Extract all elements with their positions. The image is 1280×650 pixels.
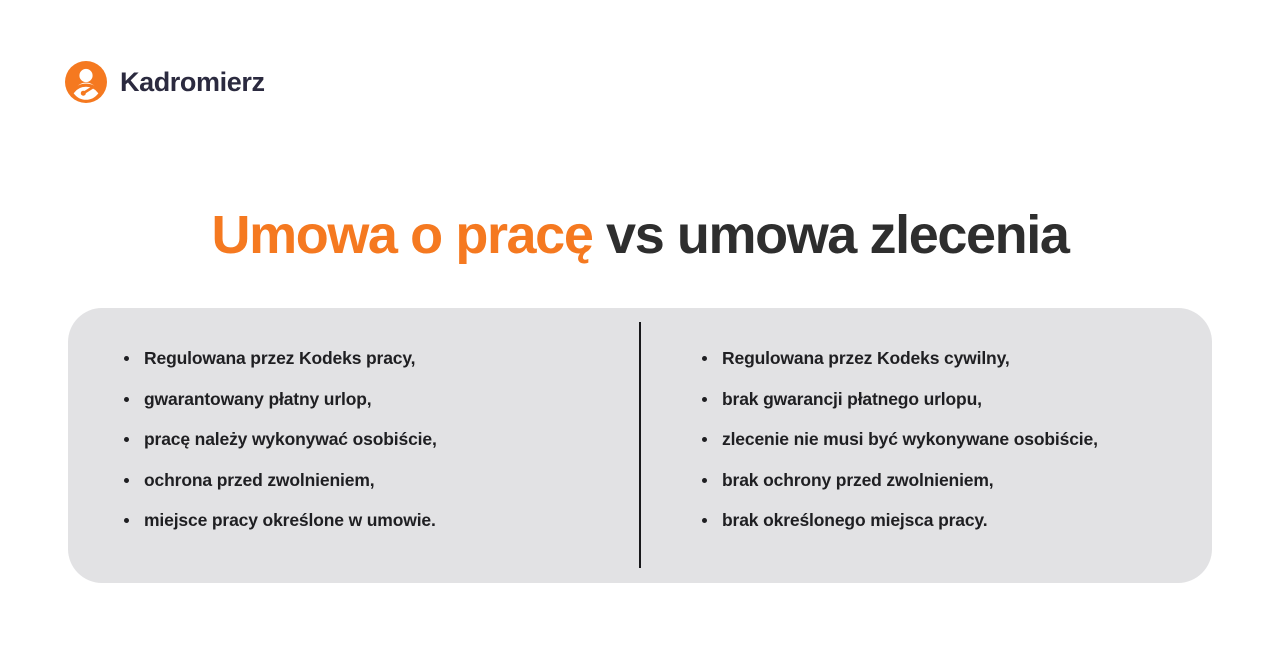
mandate-contract-list: Regulowana przez Kodeks cywilny, brak gw…	[700, 348, 1188, 531]
list-item: gwarantowany płatny urlop,	[122, 389, 616, 410]
page-title: Umowa o pracę vs umowa zlecenia	[0, 204, 1280, 268]
list-item-label: brak gwarancji płatnego urlopu,	[722, 389, 982, 409]
list-item: miejsce pracy określone w umowie.	[122, 510, 616, 531]
list-item-label: brak ochrony przed zwolnieniem,	[722, 470, 994, 490]
bullet-icon	[702, 397, 707, 402]
list-item-label: ochrona przed zwolnieniem,	[144, 470, 374, 490]
bullet-icon	[124, 397, 129, 402]
comparison-card: Regulowana przez Kodeks pracy, gwarantow…	[68, 308, 1212, 583]
bullet-icon	[124, 478, 129, 483]
employment-contract-list: Regulowana przez Kodeks pracy, gwarantow…	[122, 348, 616, 531]
list-item-label: miejsce pracy określone w umowie.	[144, 510, 436, 530]
list-item: zlecenie nie musi być wykonywane osobiśc…	[700, 429, 1188, 450]
list-item: brak ochrony przed zwolnieniem,	[700, 470, 1188, 491]
list-item-label: Regulowana przez Kodeks cywilny,	[722, 348, 1010, 368]
list-item: ochrona przed zwolnieniem,	[122, 470, 616, 491]
list-item: brak gwarancji płatnego urlopu,	[700, 389, 1188, 410]
bullet-icon	[702, 518, 707, 523]
bullet-icon	[124, 437, 129, 442]
person-gauge-icon	[64, 60, 108, 104]
list-item-label: zlecenie nie musi być wykonywane osobiśc…	[722, 429, 1098, 449]
bullet-icon	[702, 356, 707, 361]
comparison-card-inner: Regulowana przez Kodeks pracy, gwarantow…	[68, 308, 1212, 583]
page-title-plain: vs umowa zlecenia	[592, 205, 1068, 265]
list-item-label: gwarantowany płatny urlop,	[144, 389, 372, 409]
brand-logo[interactable]: Kadromierz	[64, 60, 265, 104]
column-divider	[639, 322, 641, 568]
page-title-accent: Umowa o pracę	[212, 205, 593, 265]
list-item-label: brak określonego miejsca pracy.	[722, 510, 987, 530]
list-item: brak określonego miejsca pracy.	[700, 510, 1188, 531]
employment-contract-column: Regulowana przez Kodeks pracy, gwarantow…	[68, 308, 640, 583]
bullet-icon	[702, 437, 707, 442]
bullet-icon	[124, 518, 129, 523]
list-item: pracę należy wykonywać osobiście,	[122, 429, 616, 450]
list-item: Regulowana przez Kodeks cywilny,	[700, 348, 1188, 369]
list-item-label: pracę należy wykonywać osobiście,	[144, 429, 437, 449]
mandate-contract-column: Regulowana przez Kodeks cywilny, brak gw…	[640, 308, 1212, 583]
list-item-label: Regulowana przez Kodeks pracy,	[144, 348, 415, 368]
list-item: Regulowana przez Kodeks pracy,	[122, 348, 616, 369]
bullet-icon	[702, 478, 707, 483]
bullet-icon	[124, 356, 129, 361]
brand-name: Kadromierz	[120, 69, 265, 96]
